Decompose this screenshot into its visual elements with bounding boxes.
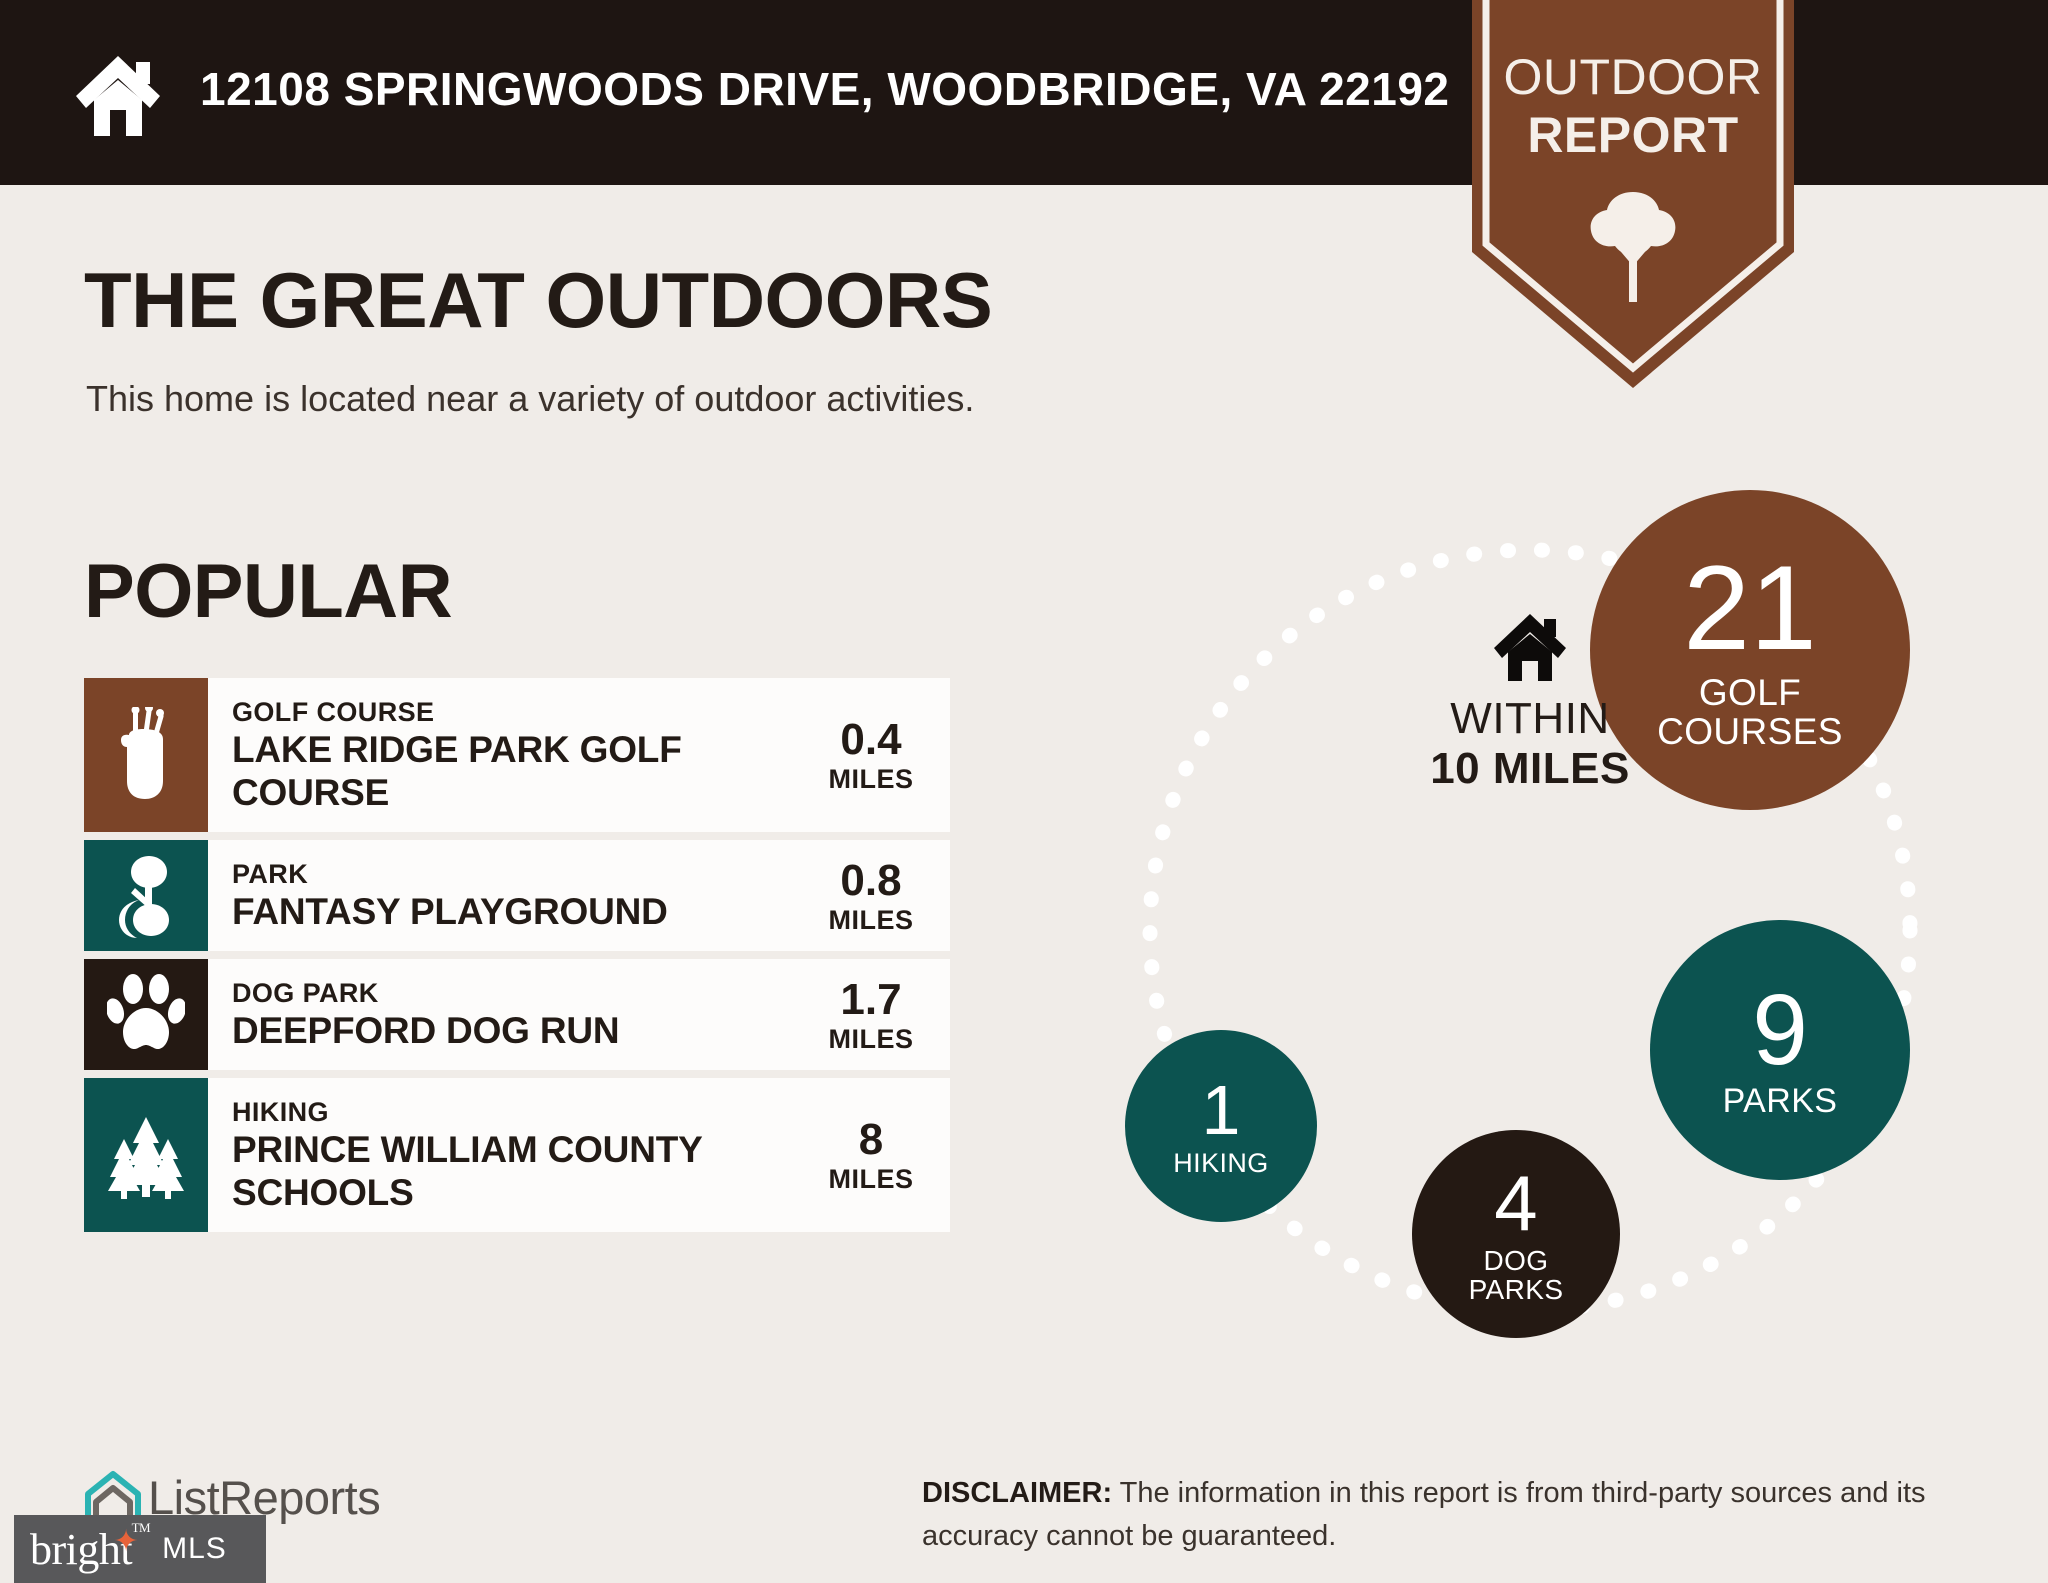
badge-line-2: REPORT xyxy=(1472,106,1794,164)
list-item[interactable]: DOG PARK DEEPFORD DOG RUN 1.7 MILES xyxy=(84,959,950,1070)
bubble-value: 9 xyxy=(1752,980,1808,1080)
bubble-value: 4 xyxy=(1494,1164,1537,1242)
list-item-distance: 8 MILES xyxy=(806,1078,950,1232)
golf-bag-icon xyxy=(84,678,208,832)
bright-wordmark: bright ✦ TM xyxy=(30,1524,132,1575)
list-item-name: DEEPFORD DOG RUN xyxy=(232,1009,806,1052)
within-10-miles-bubble-chart: 21 GOLF COURSES 9 PARKS 4 DOG PARKS 1 HI… xyxy=(1080,480,1980,1380)
list-item-distance: 0.4 MILES xyxy=(806,678,950,832)
list-item-body: HIKING PRINCE WILLIAM COUNTY SCHOOLS xyxy=(208,1078,806,1232)
list-item-distance: 1.7 MILES xyxy=(806,959,950,1070)
list-item-body: DOG PARK DEEPFORD DOG RUN xyxy=(208,959,806,1070)
section-title-popular: POPULAR xyxy=(84,548,452,635)
bubble-value: 1 xyxy=(1202,1075,1241,1145)
bubble-label: DOG PARKS xyxy=(1469,1246,1564,1305)
distance-value: 0.8 xyxy=(840,857,901,905)
center-label-line1: WITHIN xyxy=(1340,694,1720,744)
bubble-label: PARKS xyxy=(1723,1084,1838,1120)
list-item-body: GOLF COURSE LAKE RIDGE PARK GOLF COURSE xyxy=(208,678,806,832)
list-item[interactable]: GOLF COURSE LAKE RIDGE PARK GOLF COURSE … xyxy=(84,678,950,832)
list-item-category: HIKING xyxy=(232,1096,806,1128)
bubble-dog-parks: 4 DOG PARKS xyxy=(1412,1130,1620,1338)
list-item-category: PARK xyxy=(232,858,806,890)
home-icon xyxy=(1492,610,1568,684)
property-address: 12108 SPRINGWOODS DRIVE, WOODBRIDGE, VA … xyxy=(200,62,1450,116)
mls-text: MLS xyxy=(162,1532,227,1566)
bright-mls-watermark: bright ✦ TM MLS xyxy=(14,1515,266,1583)
page-subtitle: This home is located near a variety of o… xyxy=(86,378,974,420)
badge-line-1: OUTDOOR xyxy=(1472,48,1794,106)
distance-value: 8 xyxy=(859,1116,883,1164)
list-item-category: GOLF COURSE xyxy=(232,696,806,728)
outdoor-report-badge: OUTDOOR REPORT xyxy=(1472,0,1794,388)
chart-center-label: WITHIN 10 MILES xyxy=(1340,610,1720,794)
distance-unit: MILES xyxy=(828,764,913,794)
badge-text: OUTDOOR REPORT xyxy=(1472,48,1794,164)
distance-unit: MILES xyxy=(828,905,913,935)
list-item-body: PARK FANTASY PLAYGROUND xyxy=(208,840,806,951)
distance-value: 1.7 xyxy=(840,976,901,1024)
park-tree-icon xyxy=(84,840,208,951)
bubble-label-line2: PARKS xyxy=(1469,1275,1564,1304)
list-item[interactable]: HIKING PRINCE WILLIAM COUNTY SCHOOLS 8 M… xyxy=(84,1078,950,1232)
bubble-label-line1: DOG xyxy=(1469,1246,1564,1275)
list-item-name: LAKE RIDGE PARK GOLF COURSE xyxy=(232,728,806,814)
distance-unit: MILES xyxy=(828,1164,913,1194)
pine-trees-icon xyxy=(84,1078,208,1232)
disclaimer-label: DISCLAIMER: xyxy=(922,1477,1112,1509)
paw-print-icon xyxy=(84,959,208,1070)
outdoor-report-page: 12108 SPRINGWOODS DRIVE, WOODBRIDGE, VA … xyxy=(0,0,2048,1583)
disclaimer: DISCLAIMER: The information in this repo… xyxy=(922,1472,2012,1558)
list-item-name: FANTASY PLAYGROUND xyxy=(232,890,806,933)
distance-unit: MILES xyxy=(828,1024,913,1054)
list-item-distance: 0.8 MILES xyxy=(806,840,950,951)
popular-poi-list: GOLF COURSE LAKE RIDGE PARK GOLF COURSE … xyxy=(84,678,950,1240)
bubble-label: HIKING xyxy=(1173,1149,1268,1177)
center-label-line2: 10 MILES xyxy=(1340,744,1720,794)
distance-value: 0.4 xyxy=(840,716,901,764)
list-item[interactable]: PARK FANTASY PLAYGROUND 0.8 MILES xyxy=(84,840,950,951)
home-icon xyxy=(72,48,164,140)
bubble-parks: 9 PARKS xyxy=(1650,920,1910,1180)
bubble-hiking: 1 HIKING xyxy=(1125,1030,1317,1222)
trademark-symbol: TM xyxy=(132,1520,151,1536)
list-item-name: PRINCE WILLIAM COUNTY SCHOOLS xyxy=(232,1128,806,1214)
page-title: THE GREAT OUTDOORS xyxy=(84,255,992,346)
list-item-category: DOG PARK xyxy=(232,977,806,1009)
